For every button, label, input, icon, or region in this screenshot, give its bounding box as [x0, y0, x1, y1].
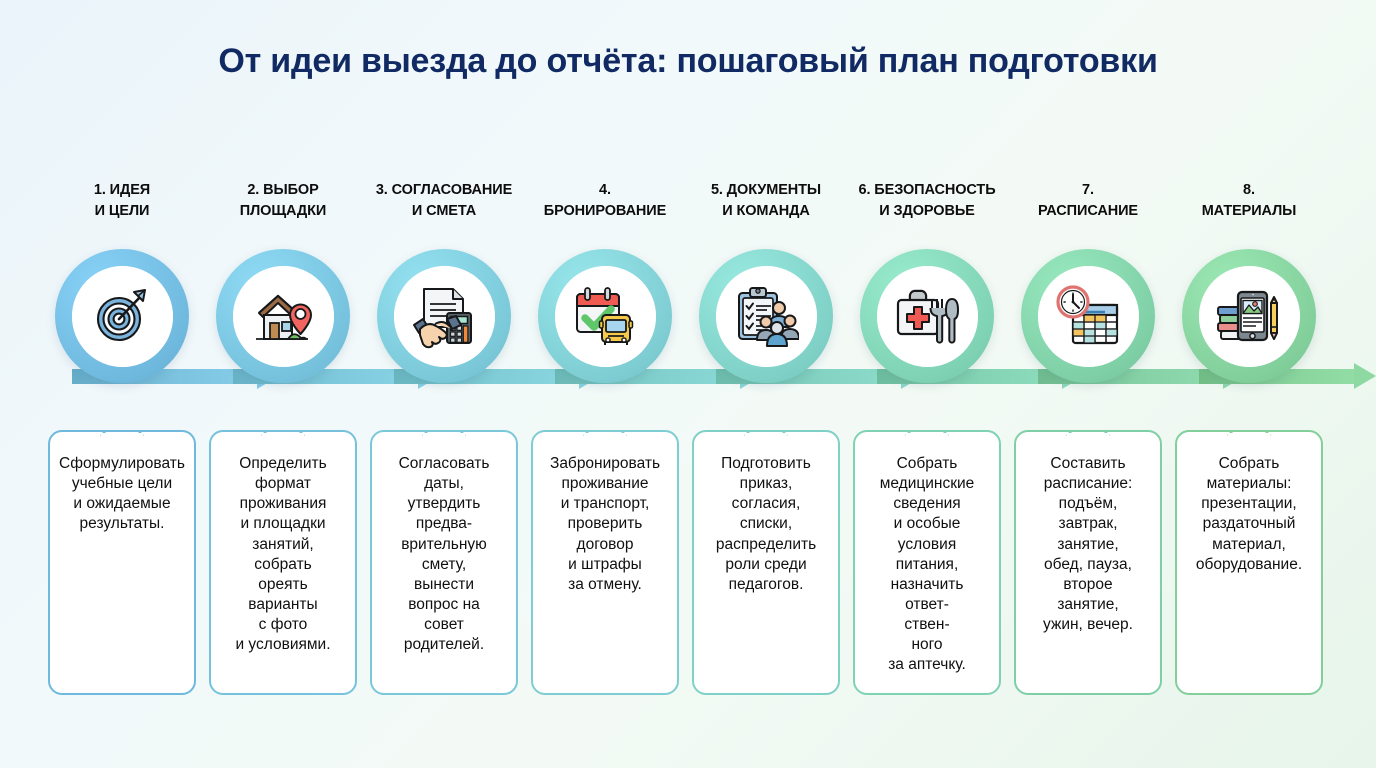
- step-card-8[interactable]: Собрать материалы: презентации, раздаточ…: [1175, 430, 1323, 695]
- step-heading-1: 1. ИДЕЯ И ЦЕЛИ: [45, 180, 199, 221]
- card-pointer-tab: [1066, 430, 1110, 434]
- infographic-canvas: От идеи выезда до отчёта: пошаговый план…: [0, 0, 1376, 768]
- step-card-text-3: Согласовать даты, утвердить предва- врит…: [379, 454, 509, 655]
- card-pointer-tab: [905, 430, 949, 434]
- books-tablet-pencil-icon: [1199, 266, 1300, 367]
- step-card-1[interactable]: Сформулировать учебные цели и ожидаемые …: [48, 430, 196, 695]
- step-card-2[interactable]: Определить формат проживания и площадки …: [209, 430, 357, 695]
- step-card-text-4: Забронировать проживание и транспорт, пр…: [540, 454, 670, 595]
- step-heading-4: 4. БРОНИРОВАНИЕ: [528, 180, 682, 221]
- page-title: От идеи выезда до отчёта: пошаговый план…: [0, 42, 1376, 81]
- house-map-pin-icon: [233, 266, 334, 367]
- card-pointer-tab: [422, 430, 466, 434]
- step-card-7[interactable]: Составить расписание: подъём, завтрак, з…: [1014, 430, 1162, 695]
- step-icon-circle-2[interactable]: [216, 249, 350, 383]
- step-icon-circle-8[interactable]: [1182, 249, 1316, 383]
- handshake-document-calculator-icon: [394, 266, 495, 367]
- step-heading-8: 8. МАТЕРИАЛЫ: [1172, 180, 1326, 221]
- card-pointer-tab: [583, 430, 627, 434]
- step-icon-circle-5[interactable]: [699, 249, 833, 383]
- step-card-text-5: Подготовить приказ, согласия, списки, ра…: [701, 454, 831, 595]
- arrow-connectors: [0, 355, 1376, 403]
- arrow-head: [1354, 363, 1376, 389]
- step-icon-circle-7[interactable]: [1021, 249, 1155, 383]
- clipboard-people-icon: [716, 266, 817, 367]
- step-card-text-6: Собрать медицинские сведения и особые ус…: [862, 454, 992, 676]
- step-card-4[interactable]: Забронировать проживание и транспорт, пр…: [531, 430, 679, 695]
- step-heading-7: 7. РАСПИСАНИЕ: [1011, 180, 1165, 221]
- step-icon-circle-1[interactable]: [55, 249, 189, 383]
- card-pointer-tab: [1227, 430, 1271, 434]
- calendar-check-bus-icon: [555, 266, 656, 367]
- step-icon-circle-6[interactable]: [860, 249, 994, 383]
- step-card-3[interactable]: Согласовать даты, утвердить предва- врит…: [370, 430, 518, 695]
- card-pointer-tab: [100, 430, 144, 434]
- step-icon-circle-3[interactable]: [377, 249, 511, 383]
- step-heading-6: 6. БЕЗОПАСНОСТЬ И ЗДОРОВЬЕ: [850, 180, 1004, 221]
- first-aid-kit-cutlery-icon: [877, 266, 978, 367]
- card-pointer-tab: [744, 430, 788, 434]
- step-heading-5: 5. ДОКУМЕНТЫ И КОМАНДА: [689, 180, 843, 221]
- step-heading-2: 2. ВЫБОР ПЛОЩАДКИ: [206, 180, 360, 221]
- step-card-6[interactable]: Собрать медицинские сведения и особые ус…: [853, 430, 1001, 695]
- step-icon-circle-4[interactable]: [538, 249, 672, 383]
- step-card-text-7: Составить расписание: подъём, завтрак, з…: [1023, 454, 1153, 635]
- step-card-text-1: Сформулировать учебные цели и ожидаемые …: [57, 454, 187, 535]
- clock-timetable-icon: [1038, 266, 1139, 367]
- step-heading-3: 3. СОГЛАСОВАНИЕ И СМЕТА: [367, 180, 521, 221]
- step-card-text-2: Определить формат проживания и площадки …: [218, 454, 348, 655]
- target-arrow-icon: [72, 266, 173, 367]
- card-pointer-tab: [261, 430, 305, 434]
- step-card-5[interactable]: Подготовить приказ, согласия, списки, ра…: [692, 430, 840, 695]
- step-card-text-8: Собрать материалы: презентации, раздаточ…: [1184, 454, 1314, 575]
